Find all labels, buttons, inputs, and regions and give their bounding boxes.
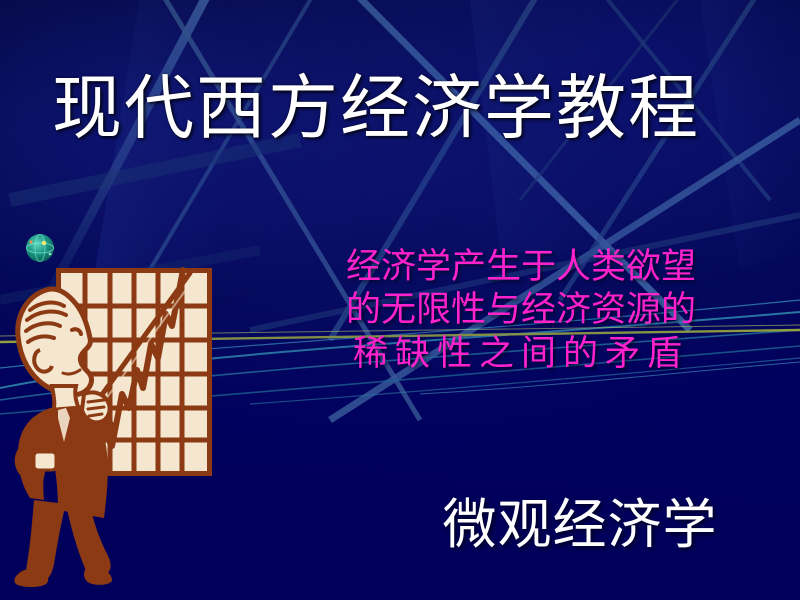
- body-line-2: 的无限性与经济资源的: [286, 289, 756, 332]
- shirt-cuff: [34, 452, 56, 470]
- hand: [82, 392, 110, 422]
- presenter-with-chart-clipart: [0, 218, 260, 600]
- slide-body-text: 经济学产生于人类欲望 的无限性与经济资源的 稀缺性之间的矛盾: [286, 246, 756, 376]
- slide-title: 现代西方经济学教程: [52, 72, 752, 146]
- presentation-slide: 现代西方经济学教程 经济学产生于人类欲望 的无限性与经济资源的 稀缺性之间的矛盾…: [0, 0, 800, 600]
- slide-subtitle: 微观经济学: [380, 480, 780, 559]
- body-line-1: 经济学产生于人类欲望: [286, 246, 756, 289]
- body-line-3: 稀缺性之间的矛盾: [286, 333, 756, 376]
- globe-icon: [26, 234, 54, 262]
